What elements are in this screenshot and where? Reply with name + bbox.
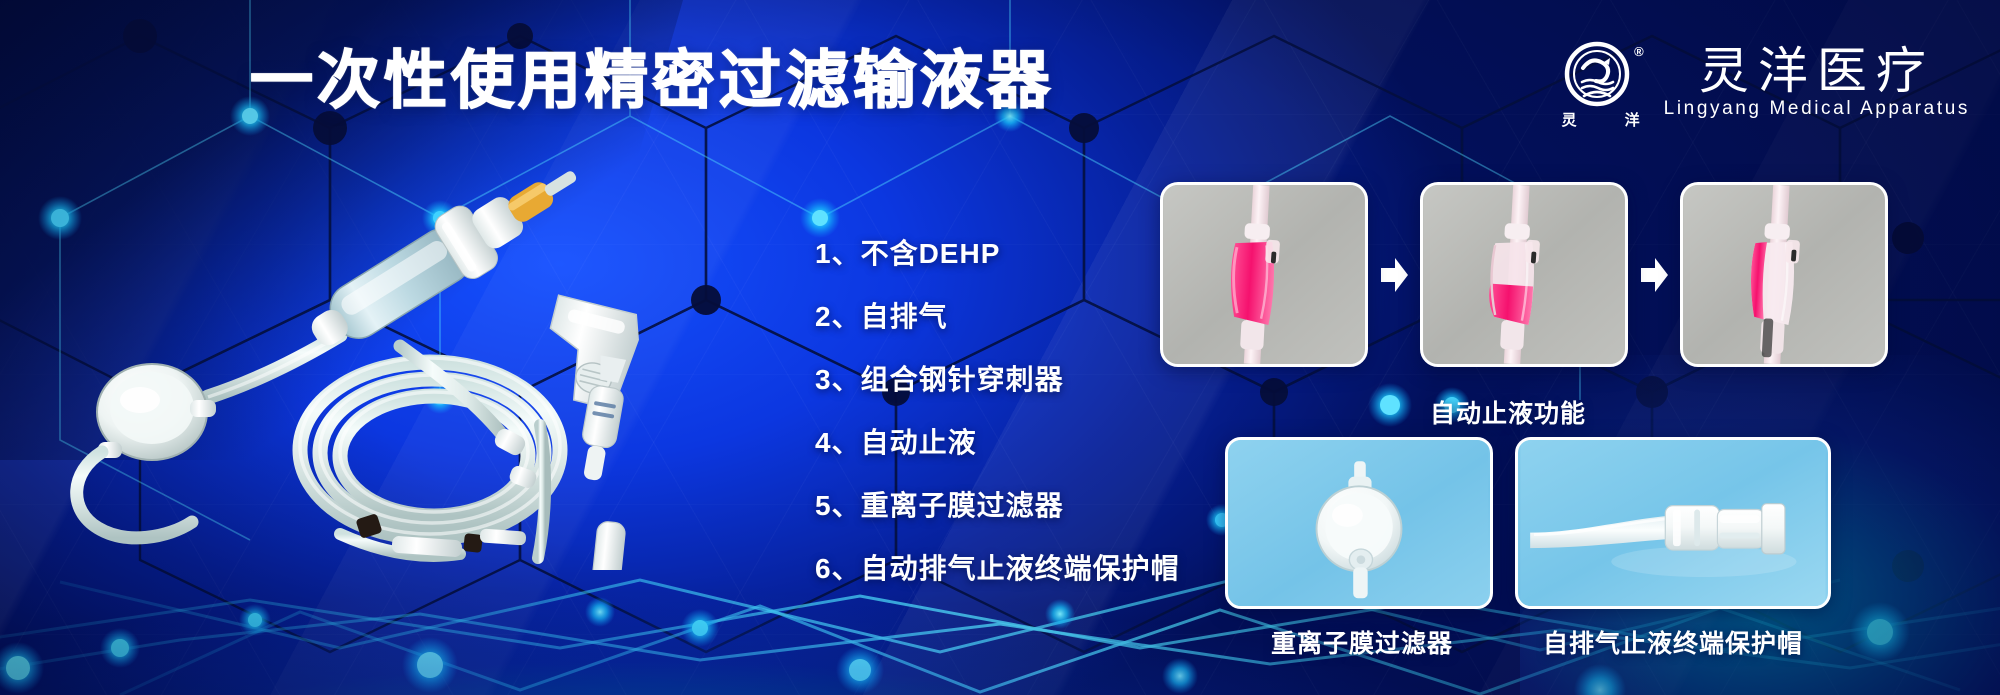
heavy-ion-membrane-filter-photo [1225,437,1493,609]
lingyang-circular-wave-emblem-icon: ® 灵 洋 [1560,38,1642,128]
auto-stop-frame-1-photo [1160,182,1368,367]
registered-trademark-icon: ® [1634,44,1644,59]
iv-infusion-set-photo [40,150,800,570]
feature-item: 5、重离子膜过滤器 [815,474,1180,537]
emblem-sub-label: 灵 洋 [1560,109,1642,130]
brand-name-cn: 灵洋医疗 [1699,46,1935,96]
auto-stop-frame-3-photo [1680,182,1888,367]
brand-name-block: 灵洋医疗 Lingyang Medical Apparatus [1664,46,1970,120]
component-caption: 重离子膜过滤器 [1271,624,1453,660]
auto-stop-frame-2-photo [1420,182,1628,367]
component-caption: 自排气止液终端保护帽 [1543,624,1803,660]
feature-item: 6、自动排气止液终端保护帽 [815,537,1180,600]
brand-name-en: Lingyang Medical Apparatus [1664,98,1970,120]
product-banner: 一次性使用精密过滤输液器 ® 灵 洋 灵洋医疗 Lingyang Medical… [0,0,2000,695]
feature-item: 4、自动止液 [815,411,1180,474]
feature-item: 2、自排气 [815,285,1180,348]
feature-list: 1、不含DEHP 2、自排气 3、组合钢针穿刺器 4、自动止液 5、重离子膜过滤… [815,222,1180,600]
emblem-char-ling: 灵 [1562,109,1577,130]
feature-item: 3、组合钢针穿刺器 [815,348,1180,411]
arrow-right-icon [1628,182,1680,367]
arrow-right-icon [1368,182,1420,367]
component-photo-row [1225,437,1831,609]
brand-logo: ® 灵 洋 灵洋医疗 Lingyang Medical Apparatus [1560,38,1970,128]
emblem-char-yang: 洋 [1625,109,1640,130]
auto-stop-caption: 自动止液功能 [1430,394,1586,430]
page-title: 一次性使用精密过滤输液器 [250,47,1054,115]
auto-stop-demo-row [1160,182,1888,367]
feature-item: 1、不含DEHP [815,222,1180,285]
self-venting-stop-end-cap-photo [1515,437,1831,609]
